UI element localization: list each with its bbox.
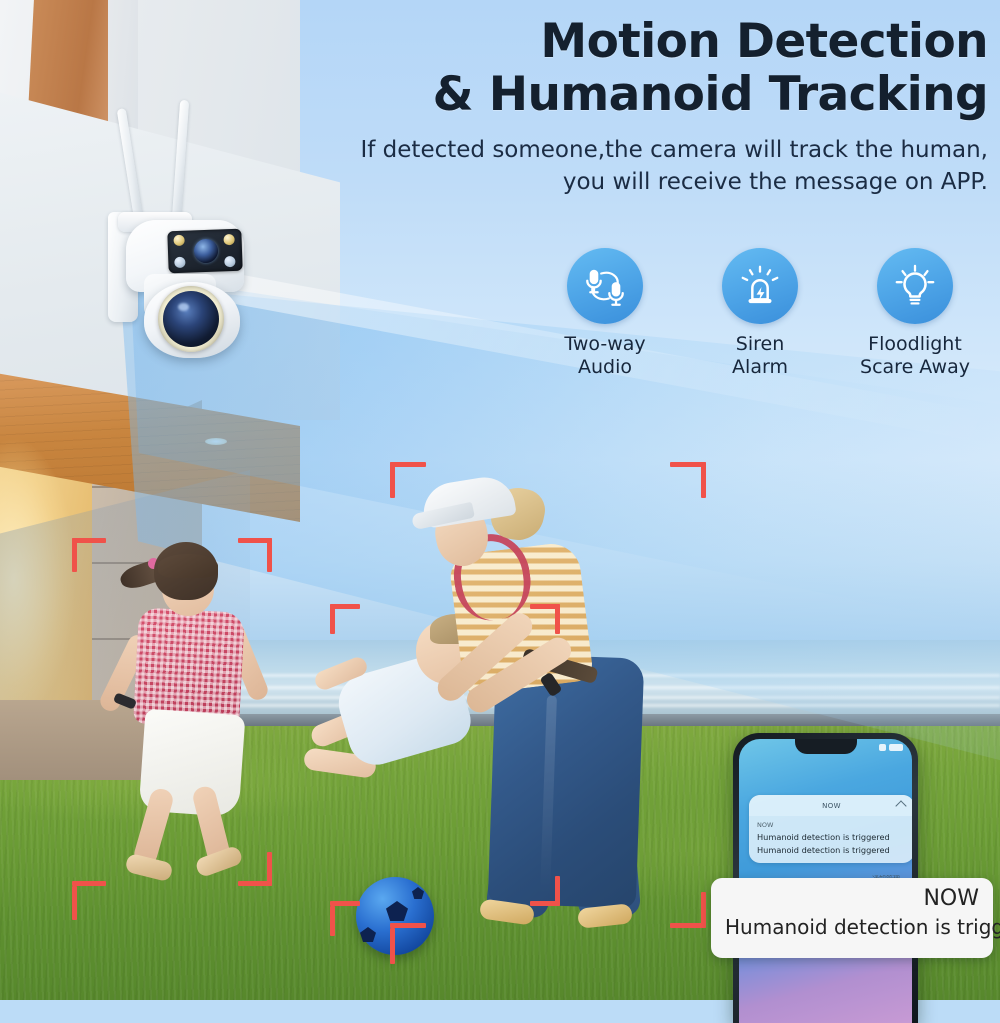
dual-lens-security-camera [100, 108, 275, 353]
feature-label-line-2: Scare Away [850, 356, 980, 379]
notification-body-time: NOW [757, 821, 906, 829]
feature-label-line-2: Audio [540, 356, 670, 379]
porch-downlight [205, 438, 227, 445]
feature-label-floodlight: Floodlight Scare Away [850, 333, 980, 379]
floodlight-icon [877, 248, 953, 324]
notification-header-time: NOW [822, 802, 841, 810]
feature-label-line-2: Alarm [695, 356, 825, 379]
feature-label-line-1: Floodlight [850, 333, 980, 356]
camera-lens-top [194, 239, 219, 264]
antenna-right [172, 100, 189, 220]
phone-notch [795, 739, 857, 754]
feature-label-line-1: Siren [695, 333, 825, 356]
page-subtitle-line-2: you will receive the message on APP. [330, 167, 988, 199]
notification-card[interactable]: NOW NOW Humanoid detection is triggered … [749, 795, 912, 863]
page-title-line-1: Motion Detection [330, 16, 988, 69]
feature-two-way-audio: Two-way Audio [540, 248, 670, 379]
battery-icon [889, 744, 903, 751]
notification-callout: NOW Humanoid detection is triggered [711, 878, 993, 958]
camera-lens-bottom [158, 286, 224, 352]
notification-card-header[interactable]: NOW [749, 795, 912, 816]
page-title-line-2: & Humanoid Tracking [330, 69, 988, 122]
siren-alarm-icon [722, 248, 798, 324]
page-title: Motion Detection & Humanoid Tracking [330, 16, 988, 121]
camera-top-lens-module [167, 229, 242, 274]
chevron-up-icon[interactable] [895, 800, 906, 811]
phone-status-bar [879, 744, 903, 751]
feature-label-line-1: Two-way [540, 333, 670, 356]
notification-message-2: Humanoid detection is triggered [757, 845, 906, 855]
detected-person-woman [410, 470, 670, 930]
notification-message-1: Humanoid detection is triggered [757, 832, 906, 842]
feature-floodlight: Floodlight Scare Away [850, 248, 980, 379]
notification-card-body: NOW Humanoid detection is triggered Huma… [749, 816, 912, 863]
page-subtitle-line-1: If detected someone,the camera will trac… [330, 135, 988, 167]
callout-message: Humanoid detection is triggered [725, 915, 979, 939]
two-way-audio-icon [567, 248, 643, 324]
header-block: Motion Detection & Humanoid Tracking If … [330, 16, 988, 199]
soccer-ball [356, 877, 434, 955]
feature-label-two-way-audio: Two-way Audio [540, 333, 670, 379]
feature-label-siren-alarm: Siren Alarm [695, 333, 825, 379]
feature-list: Two-way Audio Siren Alarm [540, 248, 980, 379]
callout-time: NOW [725, 886, 979, 911]
page-subtitle: If detected someone,the camera will trac… [330, 135, 988, 198]
wifi-icon [879, 744, 886, 751]
feature-siren-alarm: Siren Alarm [695, 248, 825, 379]
detected-person-girl [96, 536, 286, 884]
antenna-left [117, 108, 145, 228]
